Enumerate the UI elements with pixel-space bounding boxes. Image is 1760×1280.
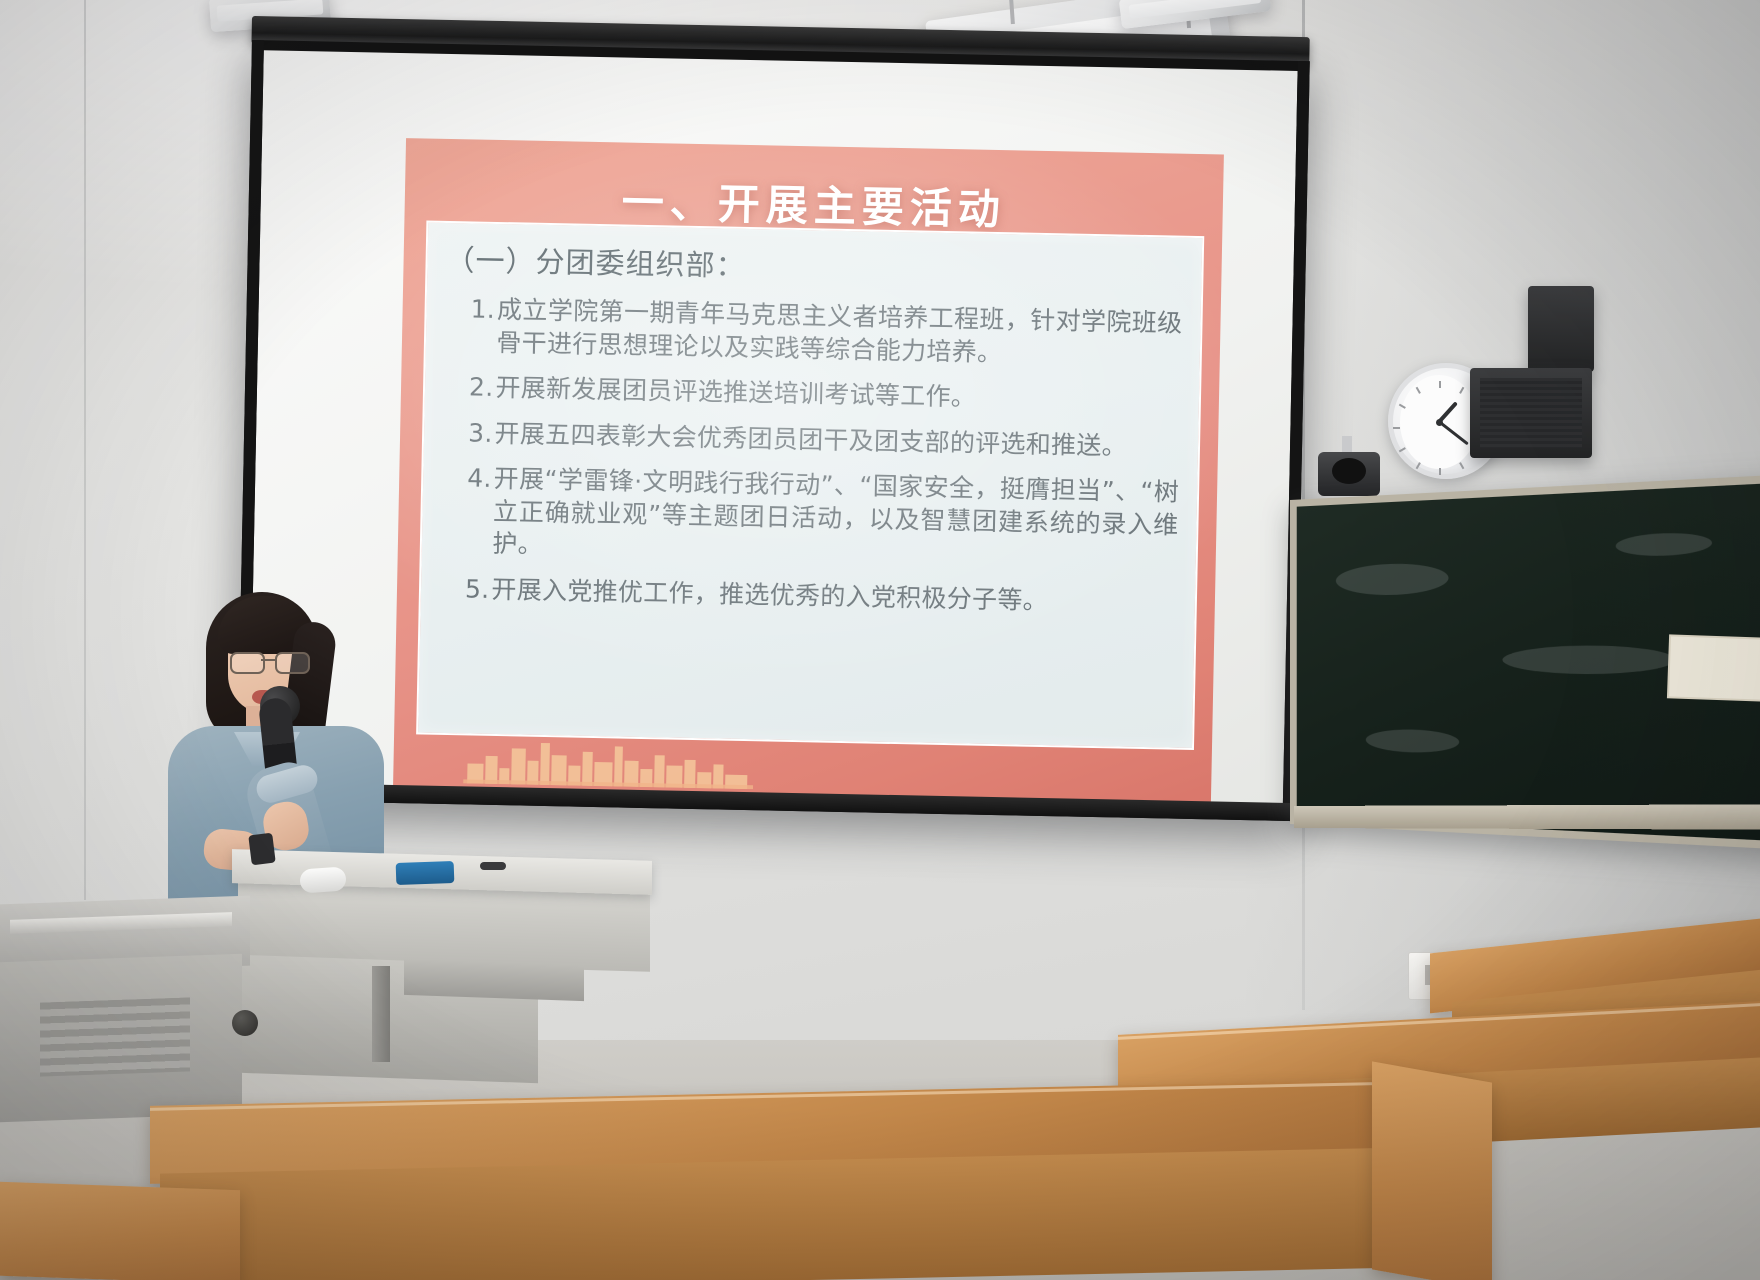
- rack-vent-grill: [40, 997, 190, 1076]
- slide-list-item: 5. 开展入党推优工作，推选优秀的入党积极分子等。: [465, 573, 1178, 620]
- wall-notice-card: [1667, 634, 1760, 701]
- wall-speaker-upper: [1528, 286, 1594, 372]
- clock-tick: [1399, 404, 1406, 409]
- list-item-text: 开展五四表彰大会优秀团员团干及团支部的评选和推送。: [494, 417, 1180, 463]
- clock-tick: [1416, 462, 1421, 469]
- desk-leg-panel: [1372, 1061, 1492, 1280]
- list-item-text: 开展“学雷锋·文明践行我行动”、“国家安全，挺膺担当”、“树立正确就业观”等主题…: [492, 463, 1179, 574]
- student-desk-left-foreground: [0, 1182, 240, 1280]
- clock-face: [1400, 375, 1478, 469]
- glasses-icon: [230, 652, 306, 670]
- presenter-remote[interactable]: [396, 861, 455, 885]
- glasses-bridge: [261, 659, 275, 661]
- slide-list-item: 4. 开展“学雷锋·文明践行我行动”、“国家安全，挺膺担当”、“树立正确就业观”…: [466, 462, 1180, 574]
- chalk-tray: [1294, 804, 1760, 830]
- clock-tick: [1459, 387, 1464, 394]
- clock-tick: [1399, 447, 1406, 452]
- slide-content-card: （一）分团委组织部： 1. 成立学院第一期青年马克思主义者培养工程班，针对学院班…: [416, 221, 1204, 751]
- projected-slide: 一、开展主要活动 （一）分团委组织部： 1. 成立学院第一期青年马克思主义者培养…: [393, 138, 1224, 804]
- list-item-text: 开展新发展团员评选推送培训考试等工作。: [495, 372, 1181, 418]
- classroom-presentation-scene: 一、开展主要活动 （一）分团委组织部： 1. 成立学院第一期青年马克思主义者培养…: [0, 0, 1760, 1280]
- wireless-mouse[interactable]: [299, 866, 347, 893]
- pen[interactable]: [480, 862, 506, 870]
- clock-minute-hand: [1438, 421, 1468, 446]
- lectern-leg: [372, 966, 390, 1062]
- wall-camera: [1318, 452, 1380, 496]
- list-item-number: 5.: [465, 573, 490, 606]
- wall-speaker-lower: [1470, 368, 1592, 458]
- rack-knob[interactable]: [232, 1010, 258, 1036]
- camera-lens-icon: [1332, 458, 1366, 484]
- wall-seam-left: [84, 0, 86, 900]
- lectern-shelf: [404, 959, 584, 1001]
- speaker-grill: [1480, 378, 1582, 448]
- clock-tick: [1439, 468, 1441, 475]
- city-skyline-icon: [463, 729, 754, 789]
- list-item-text: 开展入党推优工作，推选优秀的入党积极分子等。: [491, 573, 1177, 619]
- clock-center-pin: [1436, 419, 1443, 426]
- slide-list-item: 1. 成立学院第一期青年马克思主义者培养工程班，针对学院班级骨干进行思想理论以及…: [470, 293, 1183, 372]
- list-item-number: 1.: [470, 293, 495, 326]
- list-item-text: 成立学院第一期青年马克思主义者培养工程班，针对学院班级骨干进行思想理论以及实践等…: [496, 294, 1183, 373]
- slide-list-item: 3. 开展五四表彰大会优秀团员团干及团支部的评选和推送。: [468, 417, 1181, 464]
- glasses-lens: [275, 652, 310, 674]
- clock-tick: [1439, 381, 1441, 388]
- desk-object-dark[interactable]: [248, 833, 275, 866]
- slide-item-list: 1. 成立学院第一期青年马克思主义者培养工程班，针对学院班级骨干进行思想理论以及…: [464, 293, 1182, 632]
- slide-subheading: （一）分团委组织部：: [445, 237, 746, 285]
- list-item-number: 4.: [467, 462, 492, 495]
- clock-tick: [1459, 462, 1464, 469]
- slide-list-item: 2. 开展新发展团员评选推送培训考试等工作。: [469, 371, 1182, 418]
- clock-tick: [1393, 427, 1400, 429]
- glasses-lens: [230, 652, 265, 674]
- clock-tick: [1416, 387, 1421, 394]
- list-item-number: 2.: [469, 371, 494, 404]
- list-item-number: 3.: [468, 417, 493, 450]
